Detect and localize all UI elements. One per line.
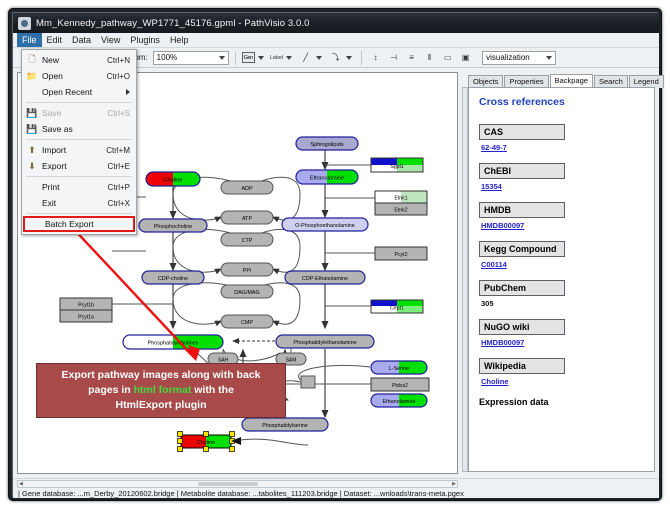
- app-screenshot: Mm_Kennedy_pathway_WP1771_45176.gpml - P…: [0, 0, 670, 509]
- svg-text:Pcyt1a: Pcyt1a: [78, 315, 94, 321]
- menu-item-import-accel: Ctrl+M: [106, 146, 136, 155]
- chevron-down-icon-2: [546, 56, 552, 60]
- svg-text:CDP-Ethanolamine: CDP-Ethanolamine: [302, 276, 348, 282]
- svg-text:Sgpl1: Sgpl1: [390, 164, 403, 170]
- node-etnk2: Etnk2: [375, 203, 427, 215]
- menu-item-open[interactable]: 📁 Open Ctrl+O: [22, 68, 136, 84]
- node-cept1: Cept1: [371, 300, 423, 313]
- menu-item-exit[interactable]: Exit Ctrl+X: [22, 195, 136, 211]
- menu-separator-4: [26, 213, 132, 214]
- annotation-callout: Export pathway images along with back pa…: [36, 363, 286, 418]
- menu-edit[interactable]: Edit: [42, 33, 68, 47]
- backpage-panel: Cross references CAS 62-49-7 ChEBI 15354…: [468, 87, 655, 472]
- menu-item-print[interactable]: Print Ctrl+P: [22, 179, 136, 195]
- node-cdp-choline: CDP-choline: [142, 271, 204, 284]
- node-phosphocholine: Phosphocholine: [139, 219, 207, 232]
- scroll-left-icon[interactable]: ◀: [18, 481, 24, 487]
- interaction-icon[interactable]: ⤵: [328, 50, 343, 65]
- label-icon[interactable]: Label: [270, 55, 283, 61]
- svg-text:Ethanolamine: Ethanolamine: [383, 399, 416, 405]
- menu-item-save-accel: Ctrl+S: [108, 109, 136, 118]
- menu-view[interactable]: View: [96, 33, 125, 47]
- open-folder-icon: 📁: [22, 71, 42, 82]
- svg-text:SAM: SAM: [286, 358, 297, 364]
- node-ethanolamine-top: Ethanolamine: [296, 170, 358, 184]
- svg-text:ATP: ATP: [242, 216, 252, 222]
- svg-text:CTP: CTP: [242, 238, 253, 244]
- menu-item-batch-export-label: Batch Export: [45, 219, 133, 229]
- menu-separator-1: [26, 102, 132, 103]
- menu-item-print-label: Print: [42, 182, 108, 192]
- menu-item-new[interactable]: 🗋 New Ctrl+N: [22, 52, 136, 68]
- backpage-value-wikipedia[interactable]: Choline: [479, 377, 646, 386]
- zoom-combo[interactable]: 100%: [153, 51, 229, 65]
- annotation-line-2: pages in html format with the: [88, 383, 234, 398]
- svg-text:DAG/MAG: DAG/MAG: [234, 290, 259, 296]
- node-ethanolamine-bottom: Ethanolamine: [371, 394, 427, 407]
- menu-item-export[interactable]: ⬇ Export Ctrl+E: [22, 158, 136, 174]
- toolbar-separator: [235, 51, 236, 65]
- svg-text:Pcyt1b: Pcyt1b: [78, 303, 94, 309]
- node-adp: ADP: [221, 181, 273, 194]
- menu-item-batch-export[interactable]: Batch Export: [23, 216, 135, 232]
- node-etnk1: Etnk1: [375, 191, 427, 203]
- backpage-value-chebi[interactable]: 15354: [479, 182, 646, 191]
- svg-text:Phosphocholine: Phosphocholine: [154, 224, 192, 230]
- backpage-section-wikipedia: Wikipedia: [479, 358, 565, 374]
- node-choline-top: Choline: [146, 172, 200, 186]
- file-menu-dropdown[interactable]: 🗋 New Ctrl+N 📁 Open Ctrl+O Open Recent 💾: [21, 49, 137, 235]
- backpage-value-cas[interactable]: 62-49-7: [479, 143, 646, 152]
- pathvisio-app-icon: [18, 17, 31, 30]
- label-dropdown-arrow[interactable]: [286, 56, 292, 60]
- align-left-icon[interactable]: ⊣: [386, 50, 401, 65]
- node-dag-mag: DAG/MAG: [221, 285, 273, 298]
- node-pcyt2: Pcyt2: [375, 247, 427, 260]
- node-cdp-ethanolamine: CDP-Ethanolamine: [285, 271, 365, 284]
- backpage-value-pubchem: 305: [479, 299, 646, 308]
- node-phosphatidylethanolamine: Phosphatidylethanolamine: [276, 335, 374, 348]
- backpage-section-nugo: NuGO wiki: [479, 319, 565, 335]
- backpage-section-chebi: ChEBI: [479, 163, 565, 179]
- svg-text:Ethanolamine: Ethanolamine: [310, 176, 344, 182]
- menu-item-open-accel: Ctrl+O: [107, 72, 136, 81]
- menu-item-save: 💾 Save Ctrl+S: [22, 105, 136, 121]
- annotation-line-1: Export pathway images along with back: [62, 368, 261, 383]
- node-atp: ATP: [221, 211, 273, 224]
- backpage-heading: Cross references: [479, 96, 646, 108]
- toolbar-separator-2: [361, 51, 362, 65]
- window-title: Mm_Kennedy_pathway_WP1771_45176.gpml - P…: [36, 18, 310, 29]
- node-o-phosphoethanolamine: O-Phosphoethanolamine: [282, 218, 368, 231]
- menu-item-save-label: Save: [42, 108, 108, 118]
- backpage-value-hmdb[interactable]: HMDB00097: [479, 221, 646, 230]
- annotation-highlight: html format: [134, 384, 192, 396]
- svg-text:O-Phosphoethanolamine: O-Phosphoethanolamine: [295, 223, 355, 229]
- svg-text:Phosphatidylserine: Phosphatidylserine: [262, 423, 308, 429]
- node-sphingolipids: Sphingolipids: [296, 137, 358, 150]
- same-size-icon[interactable]: ▭: [440, 50, 455, 65]
- node-ptdss2: Ptdss2: [371, 378, 429, 391]
- backpage-value-kegg[interactable]: C00114: [479, 260, 646, 269]
- menu-item-exit-label: Exit: [42, 198, 108, 208]
- node-cmp: CMP: [221, 315, 273, 328]
- title-bar: Mm_Kennedy_pathway_WP1771_45176.gpml - P…: [13, 13, 659, 33]
- status-bar-text: | Gene database: ...m_Derby_20120602.bri…: [18, 489, 464, 498]
- align-center-icon[interactable]: ↕: [368, 50, 383, 65]
- menu-item-open-recent[interactable]: Open Recent: [22, 84, 136, 100]
- svg-text:CMP: CMP: [241, 320, 253, 326]
- save-as-icon: 💾: [22, 124, 42, 135]
- backpage-section-cas: CAS: [479, 124, 565, 140]
- bring-to-front-icon[interactable]: ▣: [458, 50, 473, 65]
- menu-item-open-label: Open: [42, 71, 107, 81]
- svg-text:L-Serine: L-Serine: [389, 366, 409, 372]
- node-pcyt1b: Pcyt1b: [60, 298, 112, 310]
- node-pcyt1a: Pcyt1a: [60, 310, 112, 322]
- node-sgpl1: Sgpl1: [371, 158, 423, 172]
- menu-item-exit-accel: Ctrl+X: [108, 199, 136, 208]
- menu-item-import-label: Import: [42, 145, 106, 155]
- svg-text:Choline: Choline: [197, 440, 215, 446]
- new-file-icon: 🗋: [22, 52, 42, 68]
- annotation-line-3: HtmlExport plugin: [116, 398, 207, 413]
- menu-file[interactable]: File: [17, 33, 42, 47]
- datanode-icon[interactable]: Gen: [242, 52, 255, 63]
- export-icon: ⬇: [22, 161, 42, 172]
- svg-text:Pcyt2: Pcyt2: [395, 252, 408, 258]
- node-ppi: PPi: [221, 263, 273, 276]
- application-window: Mm_Kennedy_pathway_WP1771_45176.gpml - P…: [8, 8, 662, 501]
- node-choline-selected: Choline: [178, 432, 242, 452]
- datanode-dropdown-arrow[interactable]: [258, 56, 264, 60]
- menu-separator-3: [26, 176, 132, 177]
- menu-item-import[interactable]: ⬆ Import Ctrl+M: [22, 142, 136, 158]
- save-disk-icon: 💾: [22, 108, 42, 119]
- backpage-section-pubchem: PubChem: [479, 280, 565, 296]
- backpage-footer: Expression data: [479, 397, 646, 407]
- node-phosphatidylcholines: Phosphatidylcholines: [123, 335, 223, 349]
- svg-text:Etnk2: Etnk2: [394, 208, 407, 214]
- interaction-dropdown-arrow[interactable]: [346, 56, 352, 60]
- menu-item-print-accel: Ctrl+P: [108, 183, 136, 192]
- distribute-vertical-icon[interactable]: ≡: [404, 50, 419, 65]
- menu-help[interactable]: Help: [165, 33, 194, 47]
- svg-text:Choline: Choline: [164, 178, 183, 184]
- menu-item-save-as-label: Save as: [42, 124, 130, 134]
- backpage-section-hmdb: HMDB: [479, 202, 565, 218]
- annotation-line-2-b: with the: [191, 384, 234, 396]
- svg-text:ADP: ADP: [241, 186, 252, 192]
- menu-item-new-accel: Ctrl+N: [107, 56, 136, 65]
- canvas-horizontal-scrollbar[interactable]: ◀ ▶: [17, 480, 458, 488]
- backpage-value-nugo[interactable]: HMDB00097: [479, 338, 646, 347]
- menu-item-save-as[interactable]: 💾 Save as: [22, 121, 136, 137]
- chevron-down-icon: [219, 56, 225, 60]
- status-bar: ◀ ▶ | Gene database: ...m_Derby_20120602…: [13, 478, 659, 498]
- backpage-section-kegg: Kegg Compound: [479, 241, 565, 257]
- visualization-value: visualization: [486, 53, 530, 62]
- menu-plugins[interactable]: Plugins: [125, 33, 165, 47]
- import-icon: ⬆: [22, 145, 42, 156]
- node-ctp: CTP: [221, 233, 273, 246]
- menu-item-new-label: New: [42, 55, 107, 65]
- scroll-right-icon[interactable]: ▶: [451, 481, 457, 487]
- scroll-thumb[interactable]: [198, 482, 258, 486]
- menu-item-export-label: Export: [42, 161, 108, 171]
- svg-text:Etnk1: Etnk1: [394, 196, 407, 202]
- svg-text:PPi: PPi: [243, 268, 251, 274]
- node-l-serine: L-Serine: [371, 361, 427, 374]
- menu-data[interactable]: Data: [67, 33, 96, 47]
- window-inner: Mm_Kennedy_pathway_WP1771_45176.gpml - P…: [12, 12, 658, 497]
- svg-text:Sphingolipids: Sphingolipids: [310, 142, 343, 148]
- distribute-horizontal-icon[interactable]: ⦀: [422, 50, 437, 65]
- line-dropdown-arrow[interactable]: [316, 56, 322, 60]
- visualization-combo[interactable]: visualization: [482, 51, 556, 65]
- svg-text:Cept1: Cept1: [390, 306, 404, 312]
- tab-backpage[interactable]: Backpage: [550, 74, 593, 88]
- side-panel-tabs: Objects Properties Backpage Search Legen…: [468, 74, 655, 88]
- svg-text:CDP-choline: CDP-choline: [158, 276, 188, 282]
- zoom-value: 100%: [157, 53, 177, 62]
- menu-separator-2: [26, 139, 132, 140]
- annotation-line-2-a: pages in: [88, 384, 134, 396]
- menu-item-open-recent-label: Open Recent: [42, 87, 136, 97]
- node-phosphatidylserine: Phosphatidylserine: [242, 418, 328, 431]
- side-panel: Objects Properties Backpage Search Legen…: [462, 72, 655, 474]
- svg-text:Ptdss2: Ptdss2: [392, 383, 408, 389]
- svg-text:Phosphatidylcholines: Phosphatidylcholines: [148, 341, 199, 347]
- menu-item-export-accel: Ctrl+E: [108, 162, 136, 171]
- svg-text:Phosphatidylethanolamine: Phosphatidylethanolamine: [293, 340, 356, 346]
- line-icon[interactable]: ╱: [298, 50, 313, 65]
- menu-bar: File Edit Data View Plugins Help: [13, 33, 659, 48]
- chevron-right-icon: [126, 89, 130, 95]
